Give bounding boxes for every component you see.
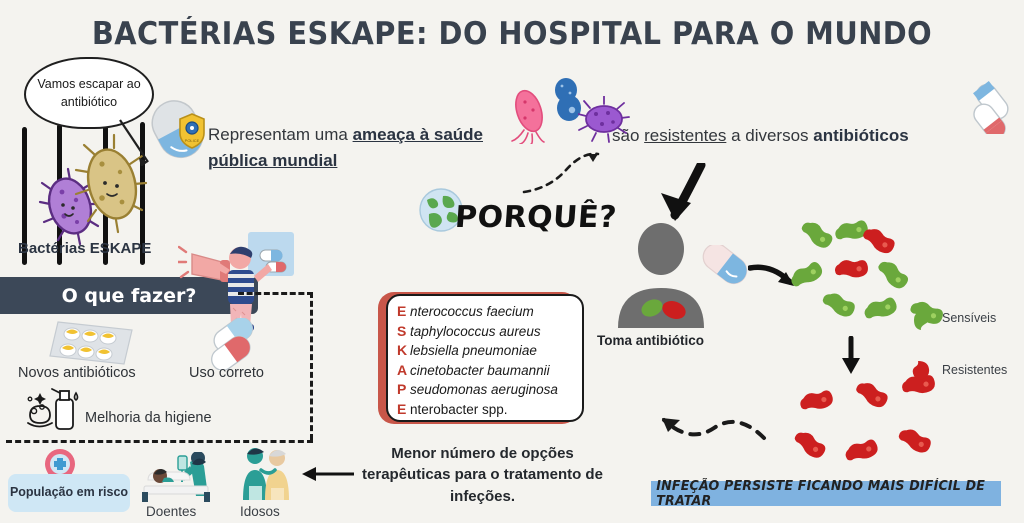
eskape-list-box: Enterococcus faeciumStaphylococcus aureu… [386,294,584,422]
eskape-row: Enterobacter spp. [397,401,582,421]
capsules-icon [203,318,265,370]
at-risk-person-label: Doentes [146,504,196,519]
eskape-row: Staphylococcus aureus [397,323,582,343]
what-to-do-item-label: Novos antibióticos [18,365,136,381]
eskape-species: taphylococcus aureus [410,324,541,339]
bacterium-red [789,425,831,465]
eskape-letter: E [397,401,410,417]
bacterium-green [796,215,838,255]
bacterium-red [841,432,883,470]
eskape-species: cinetobacter baumannii [410,363,550,378]
eskape-letter: E [397,303,410,319]
infection-persists-banner: INFEÇÃO PERSISTE FICANDO MAIS DIFÍCIL DE… [651,481,1001,506]
legend-resistant-swatch [912,358,936,382]
bacterium-green [860,290,902,328]
bacterium-green [786,255,829,296]
arrow-left-to-population-icon [300,462,356,486]
legend-resistant-label: Resistentes [942,363,1007,377]
pill-blister-icon [46,318,138,368]
what-to-do-item-label: Melhoria da higiene [85,410,212,426]
dashed-arrow-left-icon [628,398,768,448]
soap-dispenser-icon [24,385,84,433]
bacterium-green [872,255,915,296]
legend-sensitive-label: Sensíveis [942,311,996,325]
eskape-letter: A [397,362,410,378]
legend-sensitive-swatch [912,306,934,332]
dashed-connector-top [238,292,313,295]
eskape-letter: P [397,381,410,397]
eskape-row: Klebsiella pneumoniae [397,342,582,362]
what-to-do-item-label: Uso correto [189,365,264,381]
bacterium-red [851,376,893,414]
population-at-risk-badge: População em risco [8,474,130,512]
eskape-row: Pseudomonas aeruginosa [397,381,582,401]
patient-in-bed-icon [140,452,214,504]
eskape-letter: K [397,342,410,358]
bacterium-red [895,423,936,459]
bacterium-red [833,253,871,285]
dashed-connector-right [310,292,313,440]
eskape-row: Acinetobacter baumannii [397,362,582,382]
eskape-species: nterococcus faecium [410,304,534,319]
fewer-options-text: Menor número de opções terapêuticas para… [360,443,605,507]
bacterium-green [819,287,860,323]
what-to-do-label: O que fazer? [62,285,197,307]
dashed-connector-bottom [6,440,313,443]
at-risk-person-label: Idosos [240,504,280,519]
bacterium-red [797,383,838,419]
eskape-row: Enterococcus faecium [397,303,582,323]
elderly-couple-icon [235,446,297,504]
eskape-species: lebsiella pneumoniae [410,343,537,358]
eskape-species: seudomonas aeruginosa [410,382,558,397]
eskape-species: nterobacter spp. [410,402,508,417]
infection-persists-label: INFEÇÃO PERSISTE FICANDO MAIS DIFÍCIL DE… [656,479,996,509]
arrow-down-between-clusters-icon [838,336,864,378]
population-at-risk-label: População em risco [10,485,128,501]
infographic-canvas: BACTÉRIAS ESKAPE: DO HOSPITAL PARA O MUN… [0,0,1024,523]
eskape-letter: S [397,323,410,339]
